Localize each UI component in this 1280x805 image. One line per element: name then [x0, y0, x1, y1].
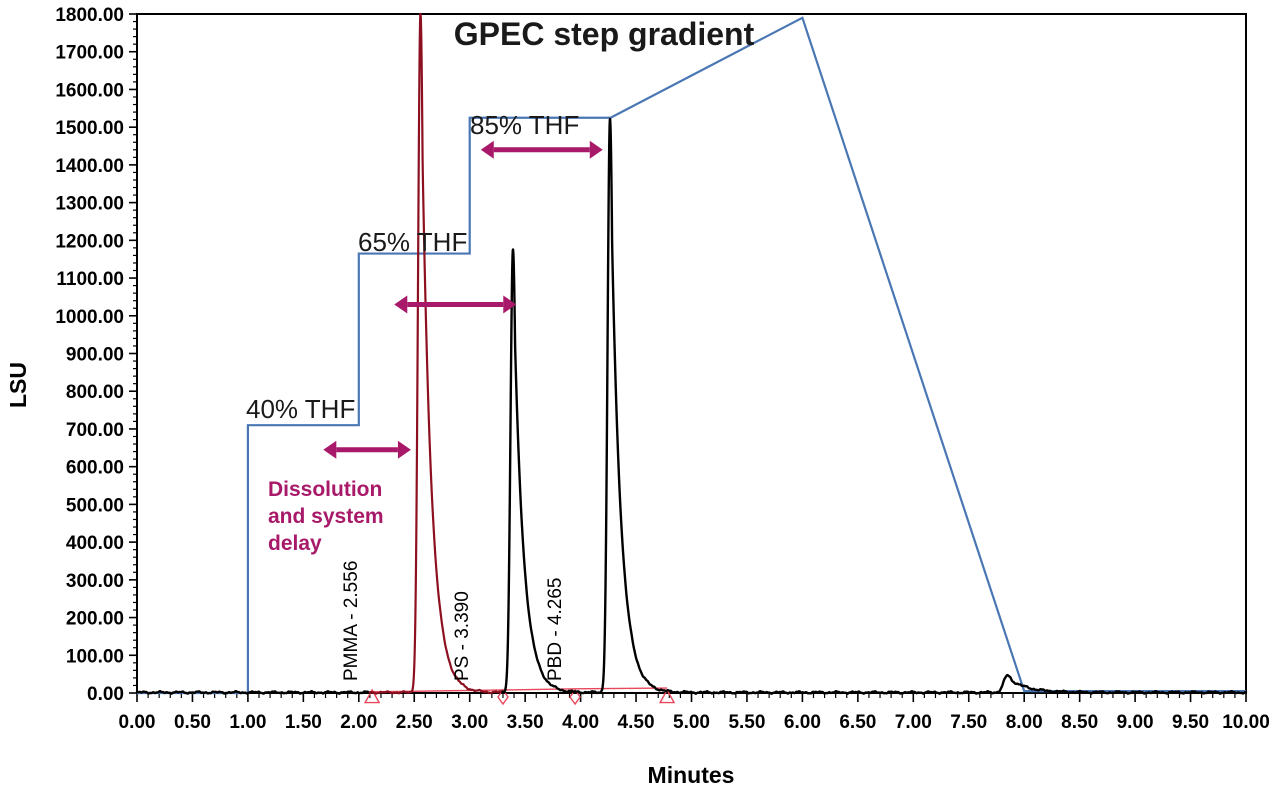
- y-tick-label: 1200.00: [55, 231, 124, 252]
- x-tick-label: 7.00: [895, 712, 932, 733]
- x-tick-label: 4.00: [562, 712, 599, 733]
- arrow-1-head-left: [323, 441, 336, 459]
- x-tick-label: 7.50: [950, 712, 987, 733]
- y-tick-label: 200.00: [66, 609, 124, 630]
- y-tick-label: 500.00: [66, 495, 124, 516]
- delay-note-line-1: Dissolution: [268, 478, 382, 501]
- y-tick-label: 900.00: [66, 345, 124, 366]
- chromatogram-chart: 0.00100.00200.00300.00400.00500.00600.00…: [0, 0, 1280, 805]
- y-tick-label: 1100.00: [56, 269, 124, 290]
- arrow-2-head-left: [394, 295, 407, 313]
- annotation-arrows: [323, 141, 602, 459]
- x-tick-label: 0.00: [119, 712, 156, 733]
- x-tick-label: 1.50: [285, 712, 322, 733]
- delay-note-line-2: and system: [268, 505, 384, 528]
- x-tick-label: 3.50: [507, 712, 544, 733]
- plot-frame: [137, 14, 1246, 693]
- y-axis-title: LSU: [5, 362, 31, 408]
- y-tick-label: 0.00: [87, 684, 124, 705]
- y-tick-label: 1800.00: [55, 5, 124, 26]
- y-tick-label: 1600.00: [55, 80, 124, 101]
- x-axis-tick-labels: 0.000.501.001.502.002.503.003.504.004.50…: [119, 712, 1270, 733]
- y-tick-label: 1400.00: [55, 156, 124, 177]
- y-tick-label: 600.00: [66, 458, 124, 479]
- x-tick-label: 9.00: [1117, 712, 1154, 733]
- x-axis-ticks: [137, 693, 1246, 702]
- y-tick-label: 300.00: [66, 571, 124, 592]
- step-label-40-thf: 40% THF: [246, 394, 355, 424]
- x-tick-label: 5.00: [673, 712, 710, 733]
- x-tick-label: 8.00: [1006, 712, 1043, 733]
- x-tick-label: 9.50: [1172, 712, 1209, 733]
- x-tick-label: 5.50: [728, 712, 765, 733]
- y-tick-label: 1300.00: [55, 194, 124, 215]
- x-tick-label: 3.00: [451, 712, 488, 733]
- x-tick-label: 8.50: [1061, 712, 1098, 733]
- y-tick-label: 800.00: [66, 382, 124, 403]
- chart-canvas: 0.00100.00200.00300.00400.00500.00600.00…: [0, 0, 1280, 805]
- step-label-85-thf: 85% THF: [470, 110, 579, 140]
- chart-title: GPEC step gradient: [454, 16, 755, 52]
- peak-label-pbd: PBD - 4.265: [545, 578, 566, 682]
- x-tick-label: 6.50: [839, 712, 876, 733]
- x-tick-label: 10.00: [1222, 712, 1270, 733]
- arrow-1-head-right: [398, 441, 411, 459]
- x-tick-label: 0.50: [174, 712, 211, 733]
- integration-baseline: [372, 688, 667, 692]
- x-axis-title: Minutes: [648, 762, 735, 788]
- y-tick-label: 1000.00: [55, 307, 124, 328]
- gradient-profile-line: [137, 18, 1246, 693]
- y-tick-label: 1700.00: [55, 43, 124, 64]
- y-axis-ticks: [129, 14, 137, 693]
- y-tick-label: 400.00: [66, 533, 124, 554]
- peak-label-ps: PS - 3.390: [452, 591, 473, 681]
- x-tick-label: 1.00: [229, 712, 266, 733]
- x-tick-label: 6.00: [784, 712, 821, 733]
- y-tick-label: 700.00: [66, 420, 124, 441]
- x-tick-label: 2.00: [340, 712, 377, 733]
- step-label-65-thf: 65% THF: [358, 227, 467, 257]
- x-tick-label: 2.50: [396, 712, 433, 733]
- y-tick-label: 1500.00: [55, 118, 124, 139]
- arrow-3-head-left: [481, 141, 494, 159]
- arrow-3-head-right: [590, 141, 603, 159]
- x-tick-label: 4.50: [618, 712, 655, 733]
- y-tick-label: 100.00: [66, 646, 124, 667]
- delay-note-line-3: delay: [268, 532, 322, 555]
- peak-label-pmma: PMMA - 2.556: [341, 561, 362, 681]
- y-axis-tick-labels: 0.00100.00200.00300.00400.00500.00600.00…: [55, 5, 124, 705]
